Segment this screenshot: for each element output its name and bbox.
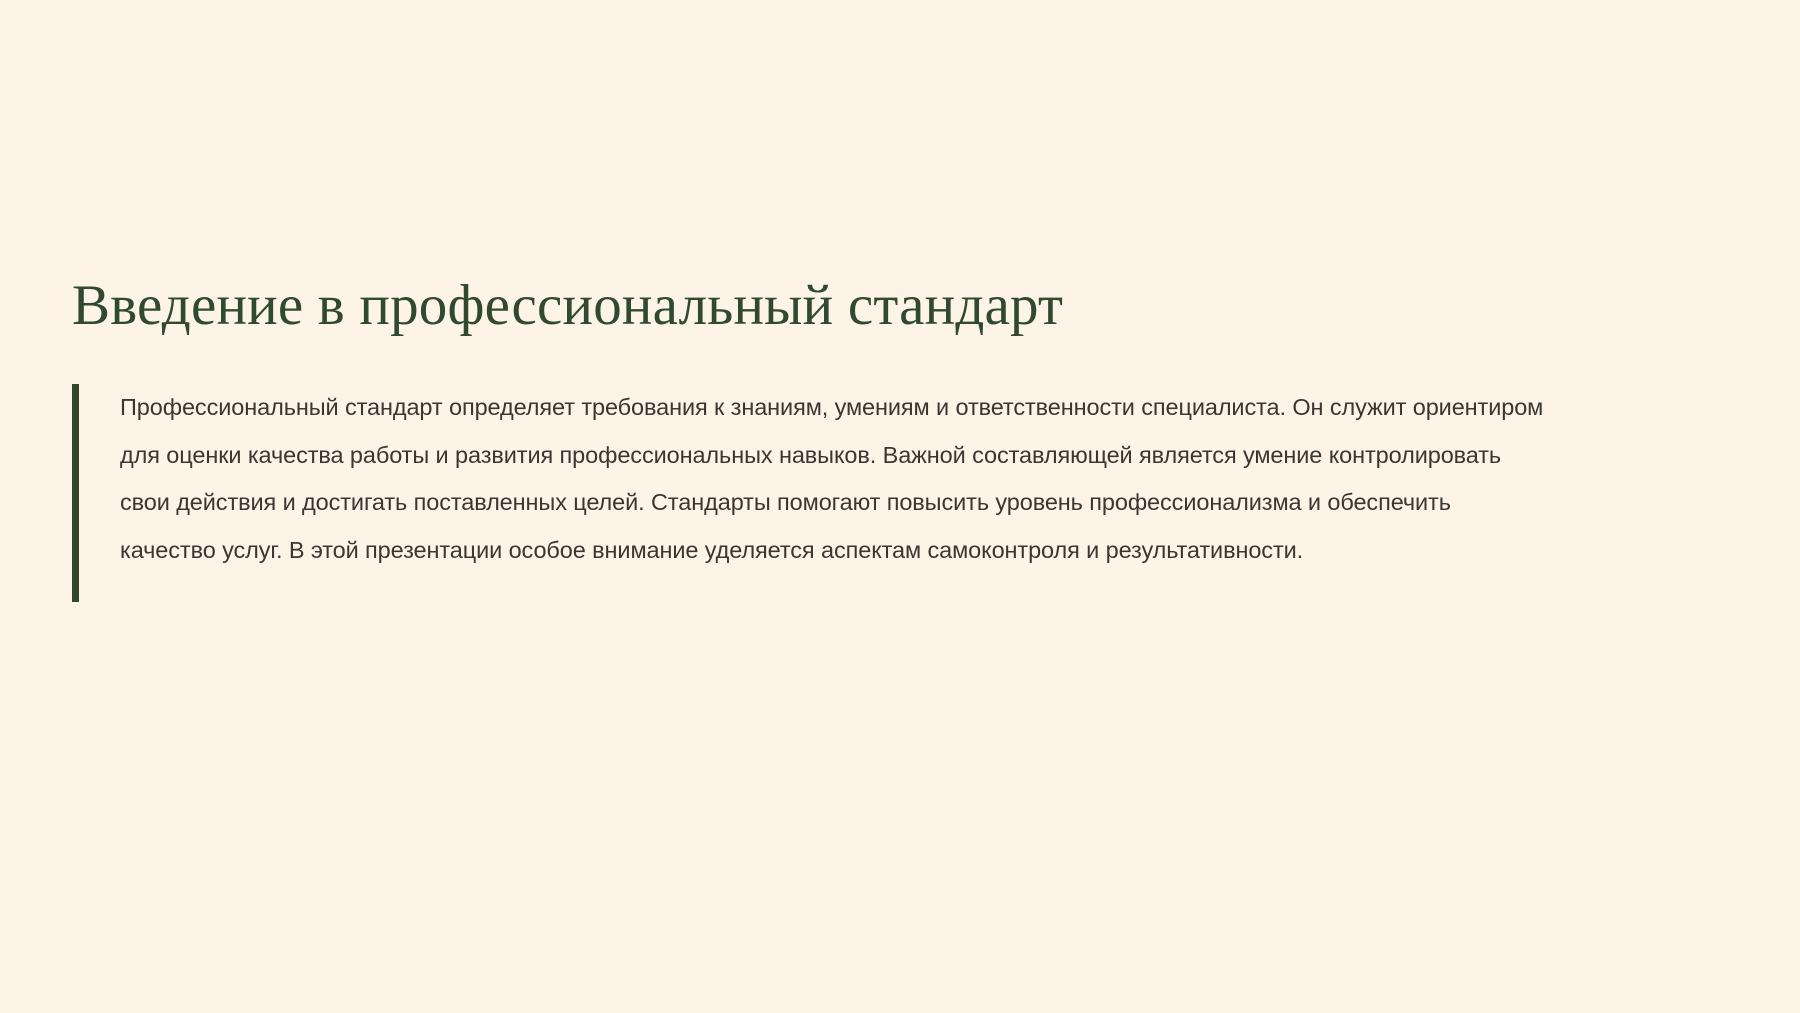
body-paragraph: Профессиональный стандарт определяет тре… <box>120 384 1550 574</box>
quote-block: Профессиональный стандарт определяет тре… <box>72 384 1732 609</box>
slide-content-area: Введение в профессиональный стандарт Про… <box>72 272 1732 609</box>
accent-bar <box>72 384 79 602</box>
page-title: Введение в профессиональный стандарт <box>72 272 1732 339</box>
presentation-slide: Введение в профессиональный стандарт Про… <box>0 0 1800 1013</box>
